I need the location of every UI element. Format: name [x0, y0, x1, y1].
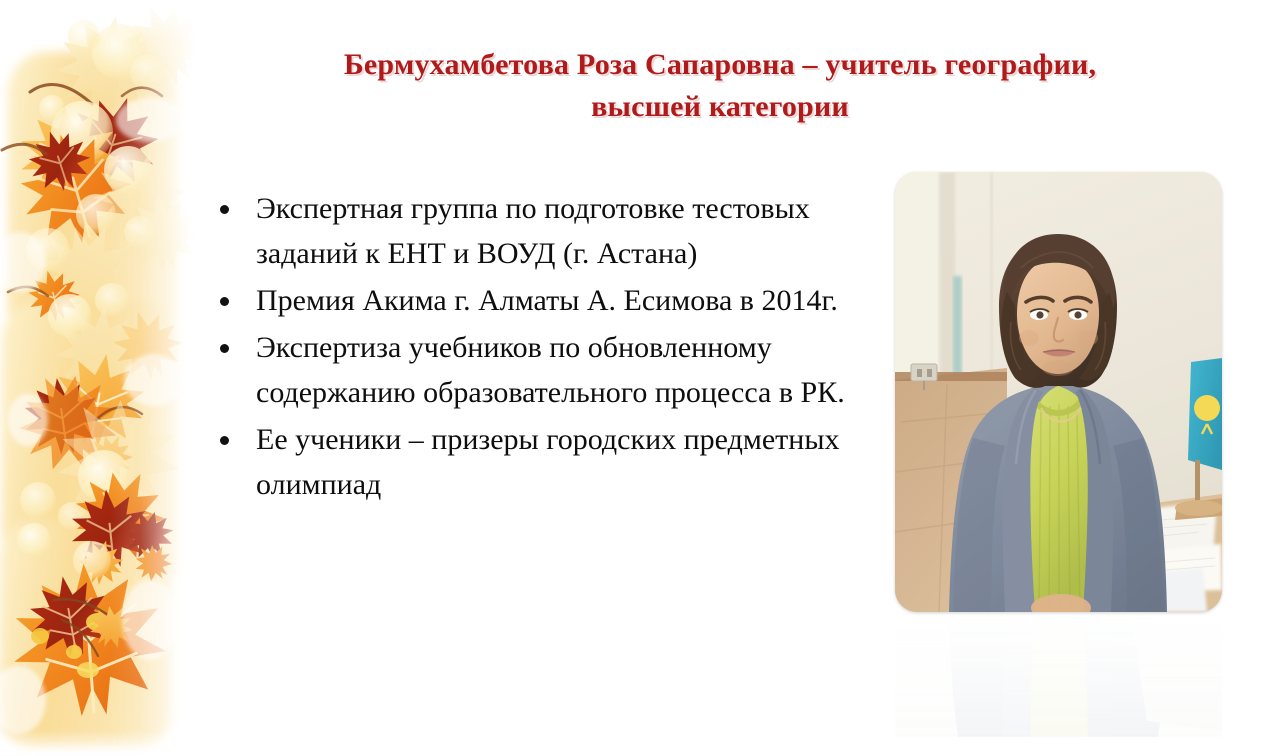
list-item: Экспертиза учебников по обновленному сод…	[214, 325, 854, 415]
list-item: Экспертная группа по подготовке тестовых…	[214, 186, 854, 276]
slide-title-line2: высшей категории	[591, 90, 849, 123]
portrait-photo-reflection	[895, 613, 1222, 737]
list-item-text: Экспертиза учебников по обновленному сод…	[256, 331, 845, 409]
list-item: Ее ученики – призеры городских предметны…	[214, 417, 854, 507]
list-item: Премия Акима г. Алматы А. Есимова в 2014…	[214, 278, 854, 323]
slide: Бермухамбетова Роза Сапаровна – учитель …	[0, 0, 1280, 756]
list-item-text: Экспертная группа по подготовке тестовых…	[256, 192, 810, 270]
bullet-marker-icon	[220, 205, 229, 214]
bullet-marker-icon	[220, 436, 229, 445]
achievements-list: Экспертная группа по подготовке тестовых…	[214, 186, 854, 509]
slide-title-line1: Бермухамбетова Роза Сапаровна – учитель …	[344, 48, 1096, 81]
bullet-marker-icon	[220, 344, 229, 353]
list-item-text: Ее ученики – призеры городских предметны…	[256, 423, 839, 501]
autumn-leaves-border	[0, 0, 200, 756]
slide-title: Бермухамбетова Роза Сапаровна – учитель …	[236, 44, 1204, 128]
portrait-photo	[895, 172, 1222, 612]
portrait-photo-container	[895, 172, 1222, 612]
list-item-text: Премия Акима г. Алматы А. Есимова в 2014…	[256, 284, 838, 317]
bullet-marker-icon	[220, 297, 229, 306]
